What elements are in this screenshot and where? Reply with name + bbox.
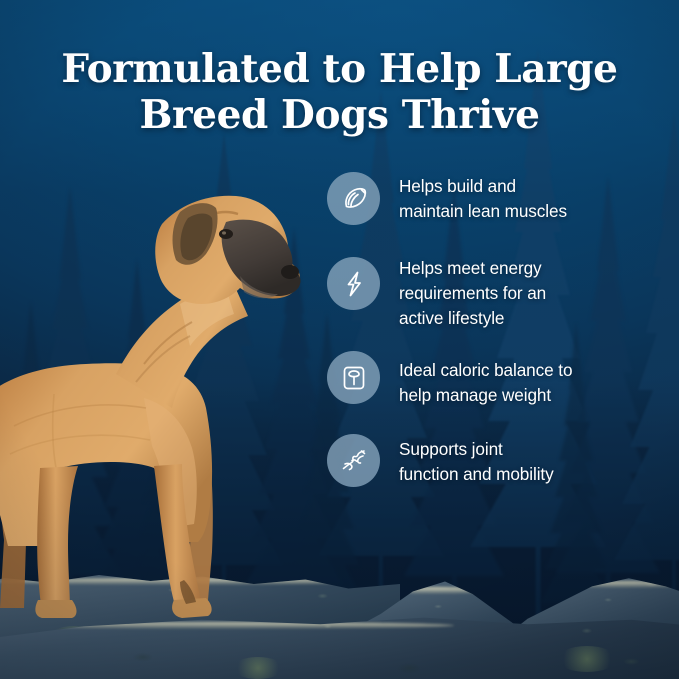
benefit-item-joint: Supports joint function and mobility bbox=[327, 432, 667, 487]
benefit-item-energy: Helps meet energy requirements for an ac… bbox=[327, 255, 667, 331]
benefit-energy-line-3: active lifestyle bbox=[399, 306, 546, 331]
headline-line-2: Breed Dogs Thrive bbox=[52, 92, 627, 138]
benefit-text-muscle: Helps build and maintain lean muscles bbox=[399, 170, 567, 224]
muscle-icon bbox=[327, 172, 380, 225]
benefit-item-muscle: Helps build and maintain lean muscles bbox=[327, 170, 667, 225]
benefit-text-weight: Ideal caloric balance to help manage wei… bbox=[399, 349, 572, 408]
benefit-text-joint: Supports joint function and mobility bbox=[399, 432, 554, 487]
benefit-muscle-line-1: Helps build and bbox=[399, 174, 567, 199]
lightning-bolt-icon bbox=[327, 257, 380, 310]
benefit-joint-line-1: Supports joint bbox=[399, 437, 554, 462]
dog-illustration bbox=[0, 168, 304, 618]
benefit-weight-line-2: help manage weight bbox=[399, 383, 572, 408]
benefit-item-weight: Ideal caloric balance to help manage wei… bbox=[327, 349, 667, 408]
benefits-list: Helps build and maintain lean muscles He… bbox=[327, 170, 667, 487]
great-dane-dog bbox=[0, 168, 304, 618]
benefit-energy-line-2: requirements for an bbox=[399, 281, 546, 306]
weight-scale-icon bbox=[327, 351, 380, 404]
benefit-muscle-line-2: maintain lean muscles bbox=[399, 199, 567, 224]
joint-bone-icon bbox=[327, 434, 380, 487]
benefit-energy-line-1: Helps meet energy bbox=[399, 256, 546, 281]
benefit-weight-line-1: Ideal caloric balance to bbox=[399, 358, 572, 383]
promotional-image: Formulated to Help Large Breed Dogs Thri… bbox=[0, 0, 679, 679]
page-title: Formulated to Help Large Breed Dogs Thri… bbox=[0, 46, 679, 138]
benefit-joint-line-2: function and mobility bbox=[399, 462, 554, 487]
benefit-text-energy: Helps meet energy requirements for an ac… bbox=[399, 255, 546, 331]
headline-line-1: Formulated to Help Large bbox=[61, 46, 617, 92]
